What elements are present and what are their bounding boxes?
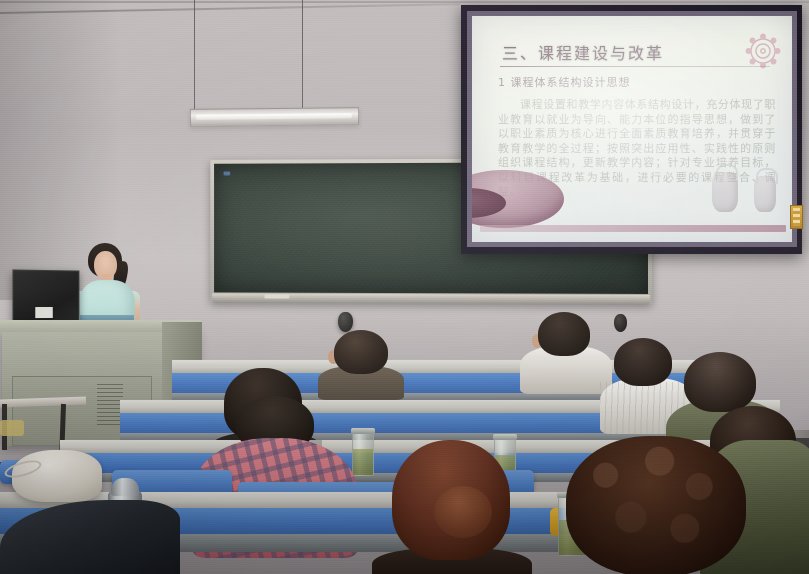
slide-title-rule	[500, 66, 770, 67]
white-bag	[12, 450, 102, 502]
wall-speaker-icon-2	[614, 314, 627, 332]
projection-screen: 三、课程建设与改革 1 课程体系结构设计思想 课程设置和教学内容体系结构设计，充…	[461, 5, 802, 254]
attendee-dark-jacket-left	[0, 500, 180, 574]
wall-notice-sign-inner	[793, 208, 800, 226]
attendee-auburn-bun	[386, 440, 516, 574]
attendee-brown-shirt	[318, 330, 404, 388]
lamp-wire-left	[194, 0, 195, 110]
vessel-handle-1	[716, 164, 738, 180]
wall-speaker-icon	[338, 312, 353, 332]
slide-vessel-icon-1	[712, 172, 738, 212]
attendee-curly-hair	[566, 436, 746, 574]
attendee-torso	[0, 500, 180, 574]
chalk-tray	[212, 293, 650, 304]
attendee-head	[334, 330, 388, 374]
presentation-slide: 三、课程建设与改革 1 课程体系结构设计思想 课程设置和教学内容体系结构设计，充…	[472, 16, 792, 242]
slide-vessel-icon-2	[754, 176, 776, 212]
wall-notice-sign	[790, 205, 803, 229]
ceiling-seam-upper	[0, 1, 809, 3]
monitor-label-sticker	[35, 307, 53, 318]
vessel-handle-2	[756, 168, 778, 184]
lamp-wire-right	[302, 0, 303, 110]
chalk-piece	[264, 295, 289, 299]
attendee-hair-bun	[434, 486, 492, 538]
slide-decorative-arc-inner	[472, 188, 506, 218]
chalkboard-corner-mark	[224, 171, 231, 175]
thermos-cap	[111, 478, 139, 496]
attendee-head	[614, 338, 672, 386]
fluorescent-lamp-icon	[190, 107, 359, 127]
attendee-head	[684, 352, 756, 412]
slide-title: 三、课程建设与改革	[502, 40, 664, 64]
side-chair	[0, 420, 24, 436]
attendee-white-shirt	[520, 312, 612, 384]
slide-footer-band	[480, 225, 786, 232]
attendee-head	[566, 436, 746, 574]
attendee-head	[538, 312, 590, 356]
lamp-tube	[196, 113, 352, 120]
classroom-photo: 三、课程建设与改革 1 课程体系结构设计思想 课程设置和教学内容体系结构设计，充…	[0, 0, 809, 574]
slide-subtitle: 1 课程体系结构设计思想	[498, 74, 631, 90]
